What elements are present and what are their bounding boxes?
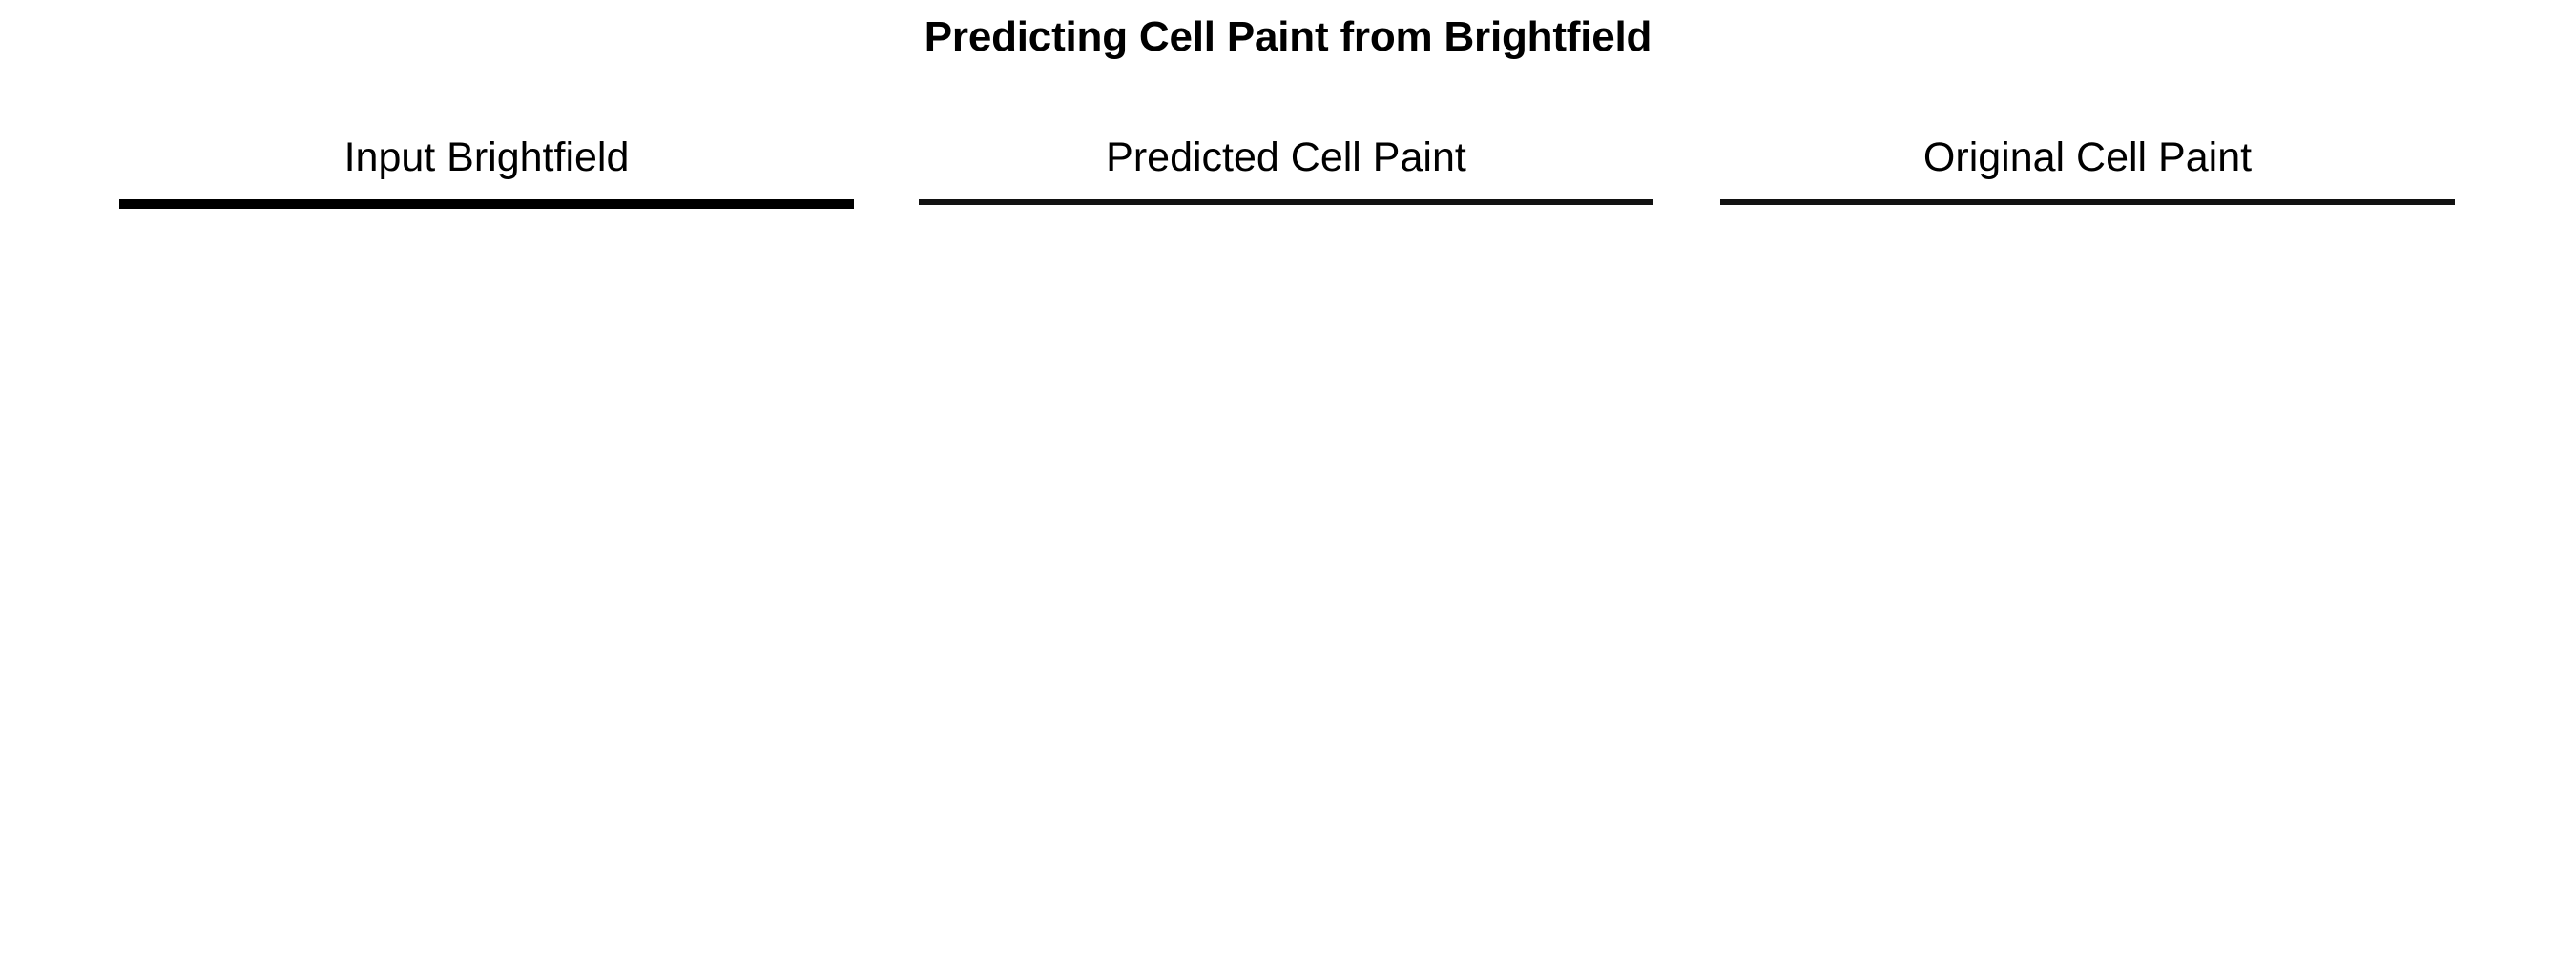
bright-focus bbox=[2277, 202, 2310, 205]
brightfield-punctum bbox=[762, 204, 768, 209]
nucleus bbox=[1927, 202, 1988, 205]
brightfield-debris-clump bbox=[603, 204, 626, 209]
bright-focus bbox=[958, 202, 988, 205]
nucleus bbox=[1781, 202, 1846, 205]
bright-focus bbox=[1461, 202, 1493, 205]
brightfield-debris-clump bbox=[283, 204, 304, 209]
nucleus bbox=[1461, 202, 1529, 205]
bright-focus bbox=[2073, 202, 2090, 205]
nucleus bbox=[2131, 202, 2191, 205]
bright-focus bbox=[2146, 202, 2169, 205]
nucleus bbox=[1519, 202, 1580, 205]
nucleus bbox=[2058, 202, 2119, 205]
nucleus bbox=[2051, 202, 2110, 205]
nucleus bbox=[1038, 202, 1099, 205]
bright-focus bbox=[1767, 202, 1794, 205]
nucleus bbox=[1381, 202, 1444, 205]
nucleus bbox=[1126, 202, 1185, 205]
nucleus bbox=[1759, 202, 1822, 205]
brightfield-punctum bbox=[443, 204, 450, 209]
brightfield-punctum bbox=[364, 204, 371, 209]
brightfield-punctum bbox=[501, 204, 506, 209]
bright-focus bbox=[1337, 202, 1361, 205]
brightfield-debris-clump bbox=[777, 204, 811, 209]
bright-focus bbox=[1148, 202, 1171, 205]
nucleus bbox=[1563, 202, 1622, 205]
nucleus bbox=[2190, 202, 2256, 205]
brightfield-punctum bbox=[211, 204, 218, 209]
bright-focus bbox=[936, 202, 968, 205]
nucleus bbox=[1257, 202, 1323, 205]
nucleus bbox=[951, 202, 1016, 205]
bright-focus bbox=[1192, 202, 1220, 205]
brightfield-debris-clump bbox=[573, 204, 602, 209]
nucleus bbox=[966, 202, 1027, 205]
nucleus bbox=[1789, 202, 1850, 205]
nucleus bbox=[1578, 202, 1635, 205]
brightfield-punctum bbox=[567, 204, 574, 209]
bright-focus bbox=[2422, 202, 2447, 205]
brightfield-debris-clump bbox=[334, 204, 366, 209]
brightfield-debris-clump bbox=[733, 204, 758, 209]
nucleus bbox=[1548, 202, 1606, 205]
nucleus bbox=[1344, 202, 1402, 205]
brightfield-punctum bbox=[255, 204, 260, 209]
nucleus bbox=[1082, 202, 1151, 205]
nucleus bbox=[2350, 202, 2409, 205]
bright-focus bbox=[2314, 202, 2337, 205]
brightfield-debris-clump bbox=[153, 204, 193, 209]
nucleus bbox=[1140, 202, 1207, 205]
nucleus bbox=[1898, 202, 1957, 205]
nucleus bbox=[2386, 202, 2443, 205]
image-original-cell-paint bbox=[1720, 199, 2455, 205]
nucleus bbox=[2233, 202, 2296, 205]
nucleus bbox=[2175, 202, 2240, 205]
panel-title-brightfield: Input Brightfield bbox=[62, 134, 911, 181]
panel-predicted: Predicted Cell Paint bbox=[919, 199, 1653, 930]
nucleus bbox=[2342, 202, 2403, 205]
bright-focus bbox=[1250, 202, 1269, 205]
nucleus bbox=[1898, 202, 1963, 205]
nucleus bbox=[972, 202, 1035, 205]
nucleus bbox=[1111, 202, 1176, 205]
bright-focus bbox=[1490, 202, 1517, 205]
nucleus bbox=[1300, 202, 1365, 205]
brightfield-punctum bbox=[385, 204, 392, 209]
panel-title-original: Original Cell Paint bbox=[1663, 134, 2512, 181]
nucleus bbox=[1272, 202, 1335, 205]
bright-focus bbox=[2212, 202, 2231, 205]
brightfield-punctum bbox=[537, 204, 543, 209]
panel-title-predicted: Predicted Cell Paint bbox=[862, 134, 1711, 181]
brightfield-punctum bbox=[472, 204, 481, 209]
brightfield-debris-clump bbox=[313, 204, 338, 209]
figure-root: Predicting Cell Paint from Brightfield I… bbox=[0, 0, 2576, 966]
nucleus bbox=[1753, 202, 1812, 205]
nucleus bbox=[1236, 202, 1310, 205]
bright-focus bbox=[1745, 202, 1770, 205]
bright-focus bbox=[1388, 202, 1405, 205]
bright-focus bbox=[2364, 202, 2399, 205]
nucleus bbox=[1418, 202, 1485, 205]
nucleus bbox=[994, 202, 1057, 205]
bright-focus bbox=[1300, 202, 1321, 205]
bright-focus bbox=[2394, 202, 2415, 205]
nucleus bbox=[1913, 202, 1978, 205]
panel-original: Original Cell Paint bbox=[1720, 199, 2455, 930]
bright-focus bbox=[1985, 202, 2005, 205]
bright-focus bbox=[951, 202, 980, 205]
brightfield-punctum bbox=[298, 204, 306, 209]
bright-focus bbox=[1162, 202, 1185, 205]
image-predicted-cell-paint bbox=[919, 199, 1653, 205]
page-title: Predicting Cell Paint from Brightfield bbox=[0, 13, 2576, 61]
bright-focus bbox=[1920, 202, 1948, 205]
nucleus bbox=[2022, 202, 2098, 205]
bright-focus bbox=[1498, 202, 1519, 205]
brightfield-debris-clump bbox=[182, 204, 209, 209]
nucleus bbox=[1418, 202, 1479, 205]
nucleus bbox=[1825, 202, 1882, 205]
nucleus bbox=[2204, 202, 2271, 205]
nucleus bbox=[2088, 202, 2154, 205]
image-input-brightfield bbox=[119, 199, 854, 209]
brightfield-punctum bbox=[639, 204, 645, 209]
nucleus bbox=[2336, 202, 2397, 205]
panel-brightfield: Input Brightfield bbox=[119, 199, 854, 930]
